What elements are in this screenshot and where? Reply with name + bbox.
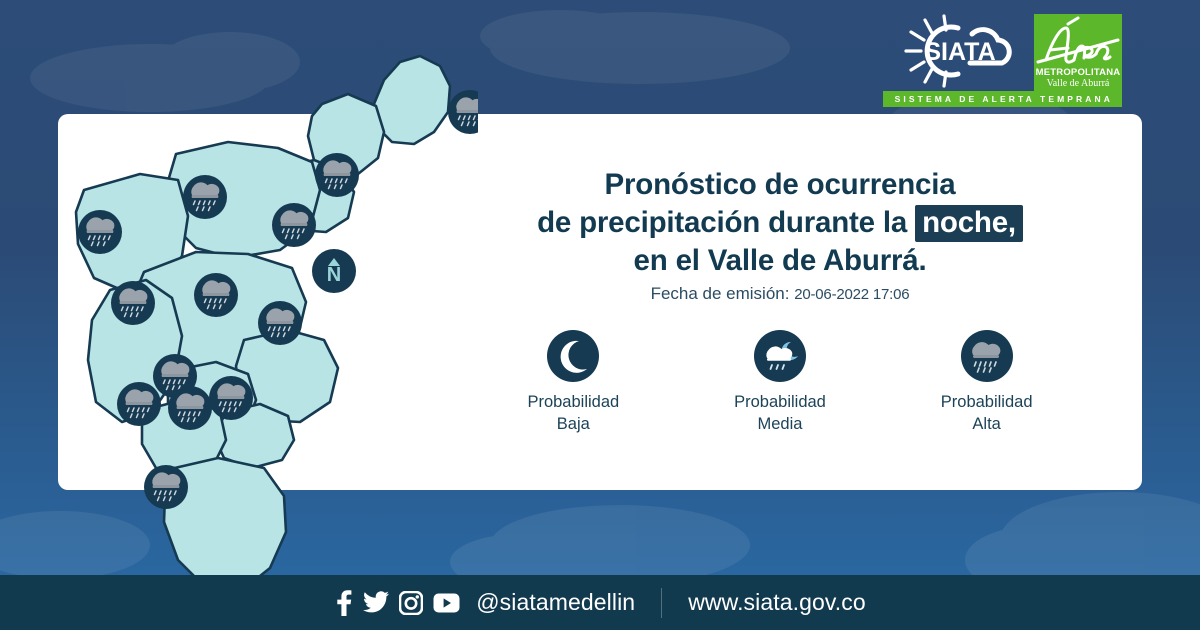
area-script-icon <box>1034 16 1122 68</box>
area-metropolitana-logo: METROPOLITANA Valle de Aburrá <box>1034 14 1122 92</box>
legend-baja-line2: Baja <box>527 413 619 435</box>
moon-icon <box>547 330 599 382</box>
emission-date-value: 20-06-2022 17:06 <box>794 286 909 303</box>
svg-text:N: N <box>327 264 341 286</box>
title-line-2: de precipitación durante la noche, <box>470 204 1090 242</box>
emission-date-label: Fecha de emisión: <box>651 284 790 303</box>
title-highlight-noche: noche, <box>915 205 1023 242</box>
facebook-icon[interactable] <box>334 590 353 616</box>
legend-label-baja: Probabilidad Baja <box>527 391 619 436</box>
legend-alta-line1: Probabilidad <box>941 391 1033 413</box>
legend-item-media: Probabilidad Media <box>690 330 870 436</box>
siata-wordmark: SIATA <box>924 38 995 66</box>
probability-legend: Probabilidad Baja Probabilidad Media <box>470 330 1090 436</box>
legend-alta-line2: Alta <box>941 413 1033 435</box>
area-line2: Valle de Aburrá <box>1047 78 1110 90</box>
emission-date: Fecha de emisión: 20-06-2022 17:06 <box>470 284 1090 304</box>
siata-logo: SIATA <box>898 14 1024 88</box>
alerta-temprana-bar: SISTEMA DE ALERTA TEMPRANA <box>883 91 1122 107</box>
title-line-1: Pronóstico de ocurrencia <box>470 166 1090 204</box>
youtube-icon[interactable] <box>433 593 460 613</box>
legend-item-alta: Probabilidad Alta <box>897 330 1077 436</box>
title-line-3: en el Valle de Aburrá. <box>470 242 1090 280</box>
legend-media-line2: Media <box>734 413 826 435</box>
page-title: Pronóstico de ocurrencia de precipitació… <box>470 166 1090 279</box>
cloud-heavy-rain-icon <box>961 330 1013 382</box>
legend-label-alta: Probabilidad Alta <box>941 391 1033 436</box>
area-line1: METROPOLITANA <box>1036 68 1121 78</box>
compass-north-icon: N <box>312 249 356 293</box>
instagram-icon[interactable] <box>399 591 423 615</box>
twitter-icon[interactable] <box>363 591 389 614</box>
legend-label-media: Probabilidad Media <box>734 391 826 436</box>
social-handle[interactable]: @siatamedellin <box>476 589 635 616</box>
infographic-root: N <box>0 0 1200 630</box>
aburra-valley-map: N <box>48 40 478 580</box>
website-url[interactable]: www.siata.gov.co <box>688 589 866 616</box>
legend-media-line1: Probabilidad <box>734 391 826 413</box>
legend-baja-line1: Probabilidad <box>527 391 619 413</box>
footer-divider <box>661 588 662 618</box>
footer-bar: @siatamedellin www.siata.gov.co <box>0 575 1200 630</box>
legend-item-baja: Probabilidad Baja <box>483 330 663 436</box>
cloud-moon-rain-icon <box>754 330 806 382</box>
social-icon-group <box>334 590 460 616</box>
logo-group: SIATA METROPOLITANA Valle de Aburrá <box>898 14 1122 92</box>
title-line-2-text: de precipitación durante la <box>537 206 915 239</box>
